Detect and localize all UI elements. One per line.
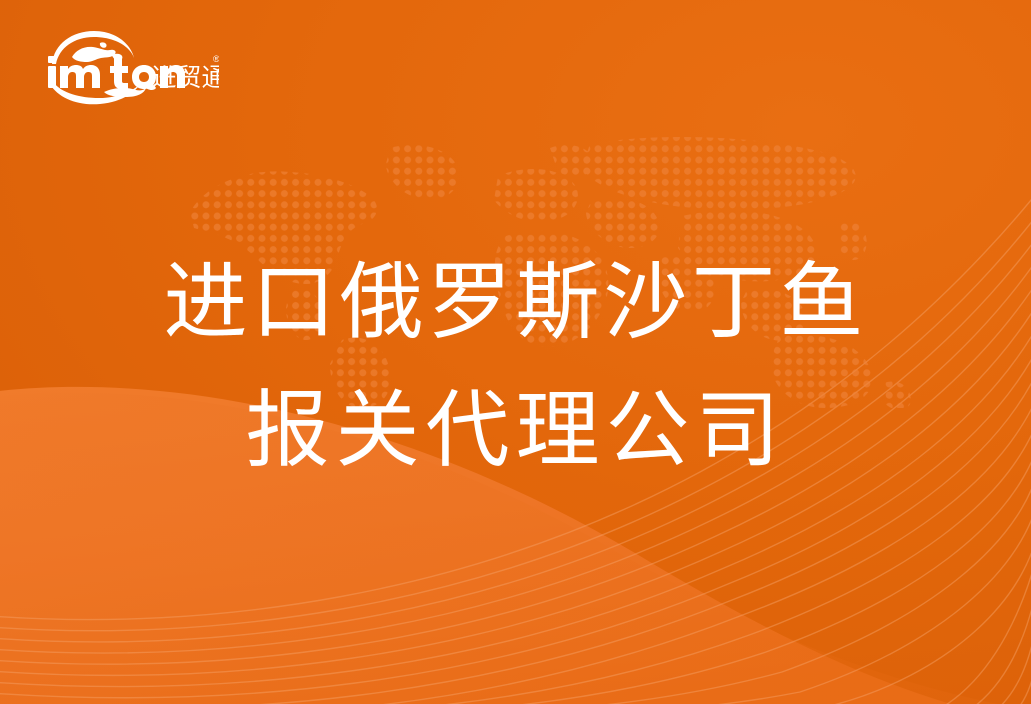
- headline-line-1: 进口俄罗斯沙丁鱼: [0, 238, 1031, 366]
- headline: 进口俄罗斯沙丁鱼 报关代理公司: [0, 238, 1031, 494]
- logo-chinese-name: 进贸通: [151, 64, 219, 92]
- logo-trademark-symbol: ®: [213, 54, 219, 64]
- banner: 进贸通 ® 进口俄罗斯沙丁鱼 报关代理公司: [0, 0, 1031, 704]
- brand-logo[interactable]: 进贸通 ®: [44, 28, 219, 106]
- headline-line-2: 报关代理公司: [0, 366, 1031, 494]
